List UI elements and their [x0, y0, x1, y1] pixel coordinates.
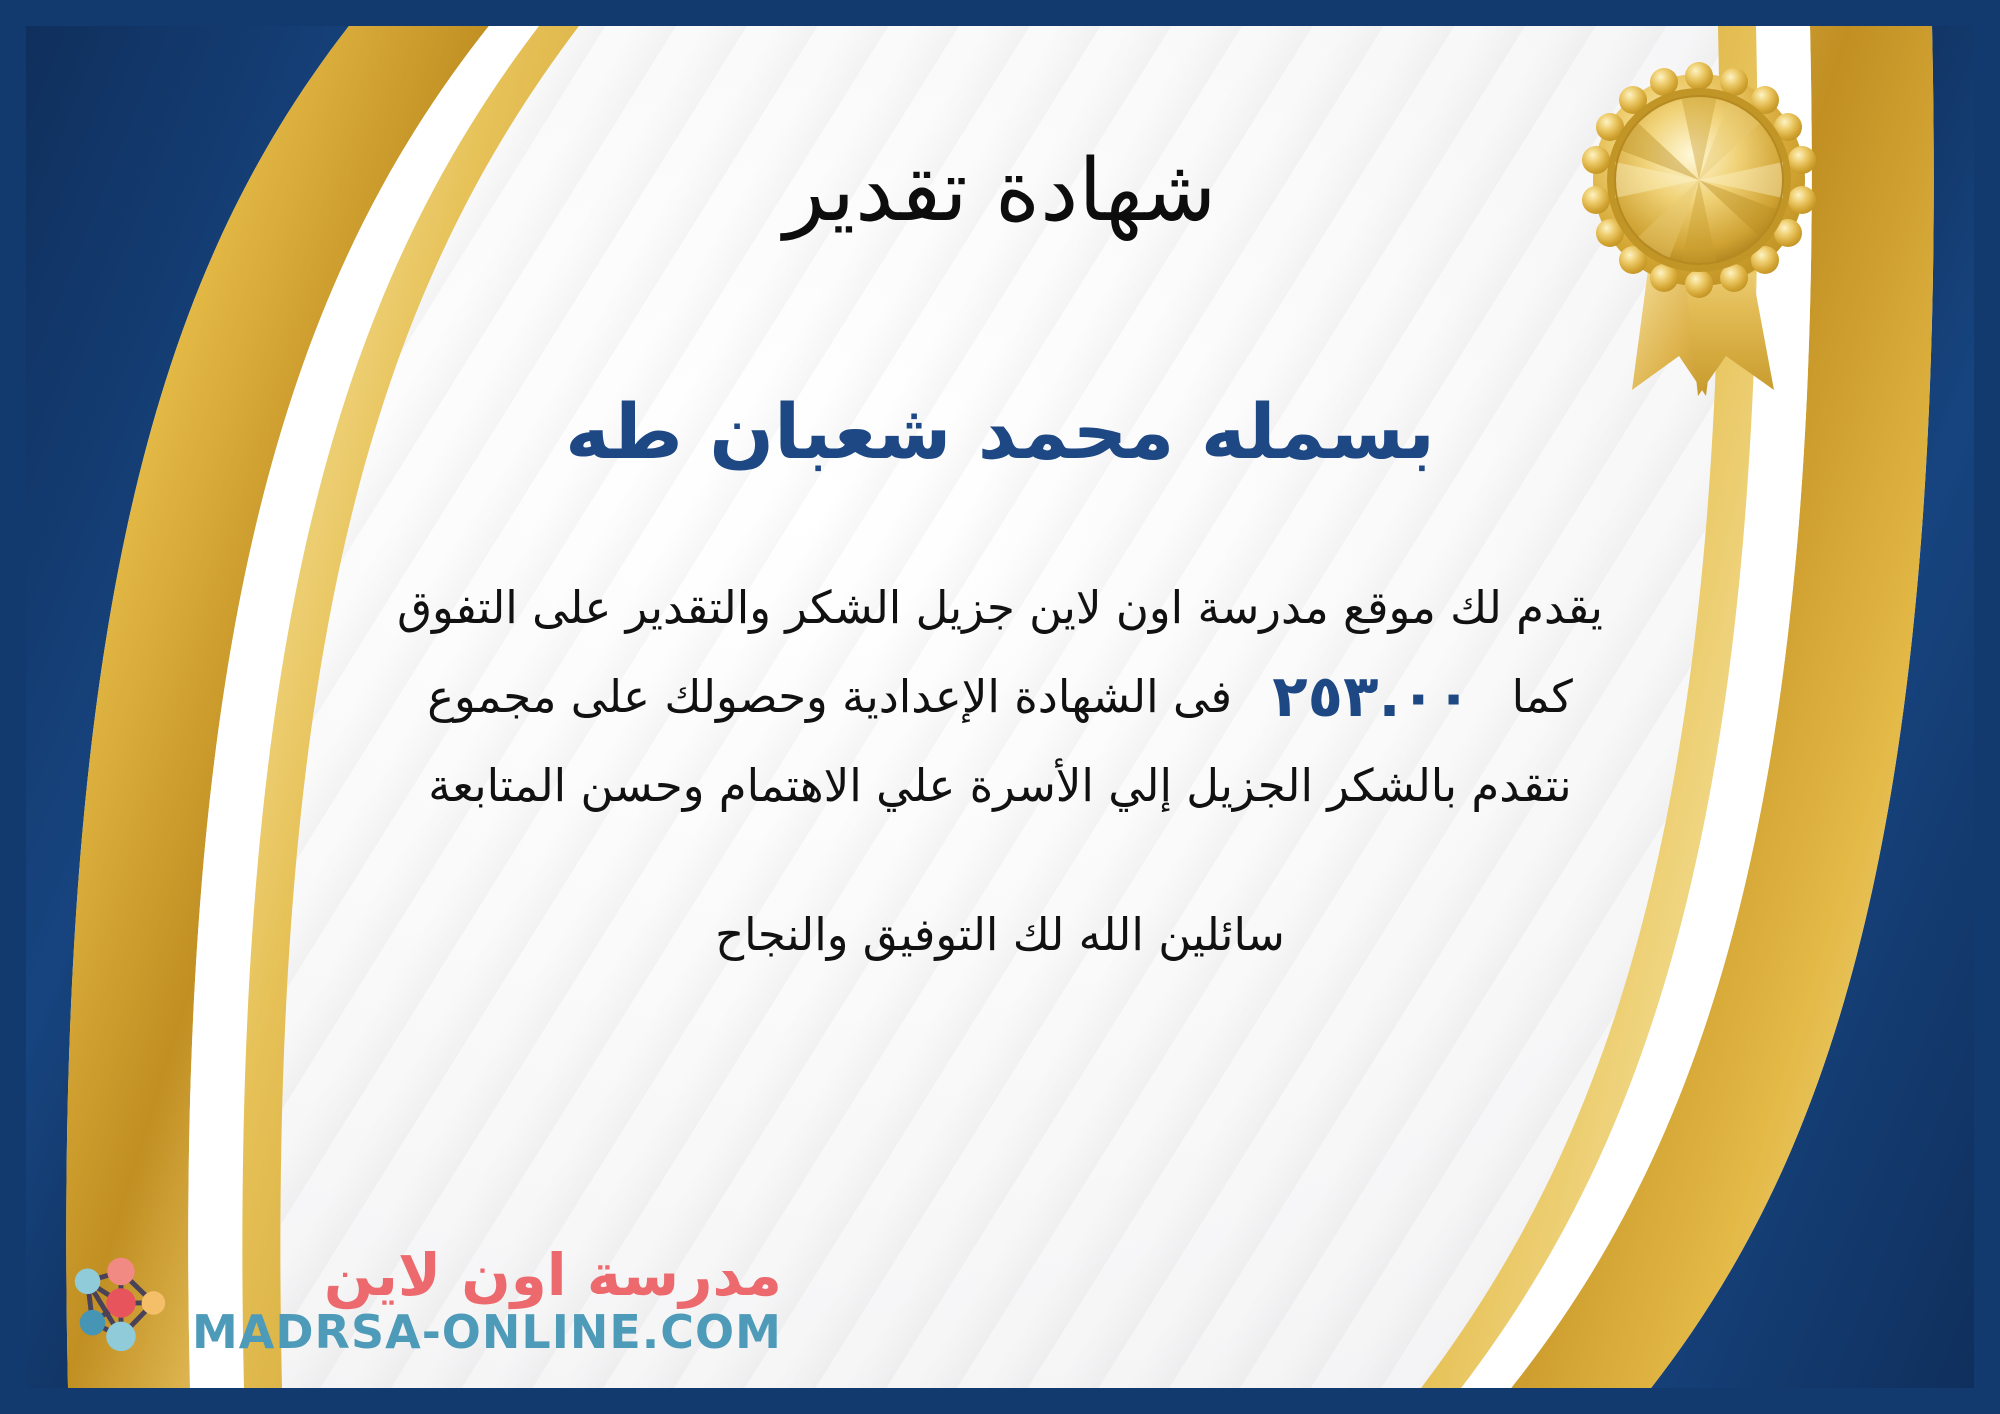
network-nodes-icon	[60, 1242, 178, 1360]
body-line-2: كما ٢٥٣.٠٠ فى الشهادة الإعدادية وحصولك ع…	[60, 647, 1940, 747]
body-line-3: نتقدم بالشكر الجزيل إلي الأسرة علي الاهت…	[60, 747, 1940, 824]
student-name: بسمله محمد شعبان طه	[565, 386, 1435, 477]
certificate-page: شهادة تقدير بسمله محمد شعبان طه يقدم لك …	[0, 0, 2000, 1414]
brand-name-arabic: مدرسة اون لاين	[324, 1246, 782, 1304]
body-line-2-suffix: كما	[1512, 670, 1573, 723]
brand-website-url: MADRSA-ONLINE.COM	[192, 1308, 782, 1356]
brand-logo[interactable]: مدرسة اون لاين MADRSA-ONLINE.COM	[60, 1242, 782, 1360]
brand-text-group: مدرسة اون لاين MADRSA-ONLINE.COM	[192, 1246, 782, 1356]
certificate-body: شهادة تقدير بسمله محمد شعبان طه يقدم لك …	[26, 26, 1974, 1388]
certificate-content: شهادة تقدير بسمله محمد شعبان طه يقدم لك …	[26, 26, 1974, 1388]
certificate-body-text: يقدم لك موقع مدرسة اون لاين جزيل الشكر و…	[60, 569, 1940, 824]
body-line-2-prefix: فى الشهادة الإعدادية وحصولك على مجموع	[427, 670, 1232, 723]
grade-total-value: ٢٥٣.٠٠	[1246, 647, 1497, 747]
closing-line: سائلين الله لك التوفيق والنجاح	[715, 908, 1285, 961]
certificate-title: شهادة تقدير	[784, 146, 1217, 236]
body-line-1: يقدم لك موقع مدرسة اون لاين جزيل الشكر و…	[60, 569, 1940, 646]
